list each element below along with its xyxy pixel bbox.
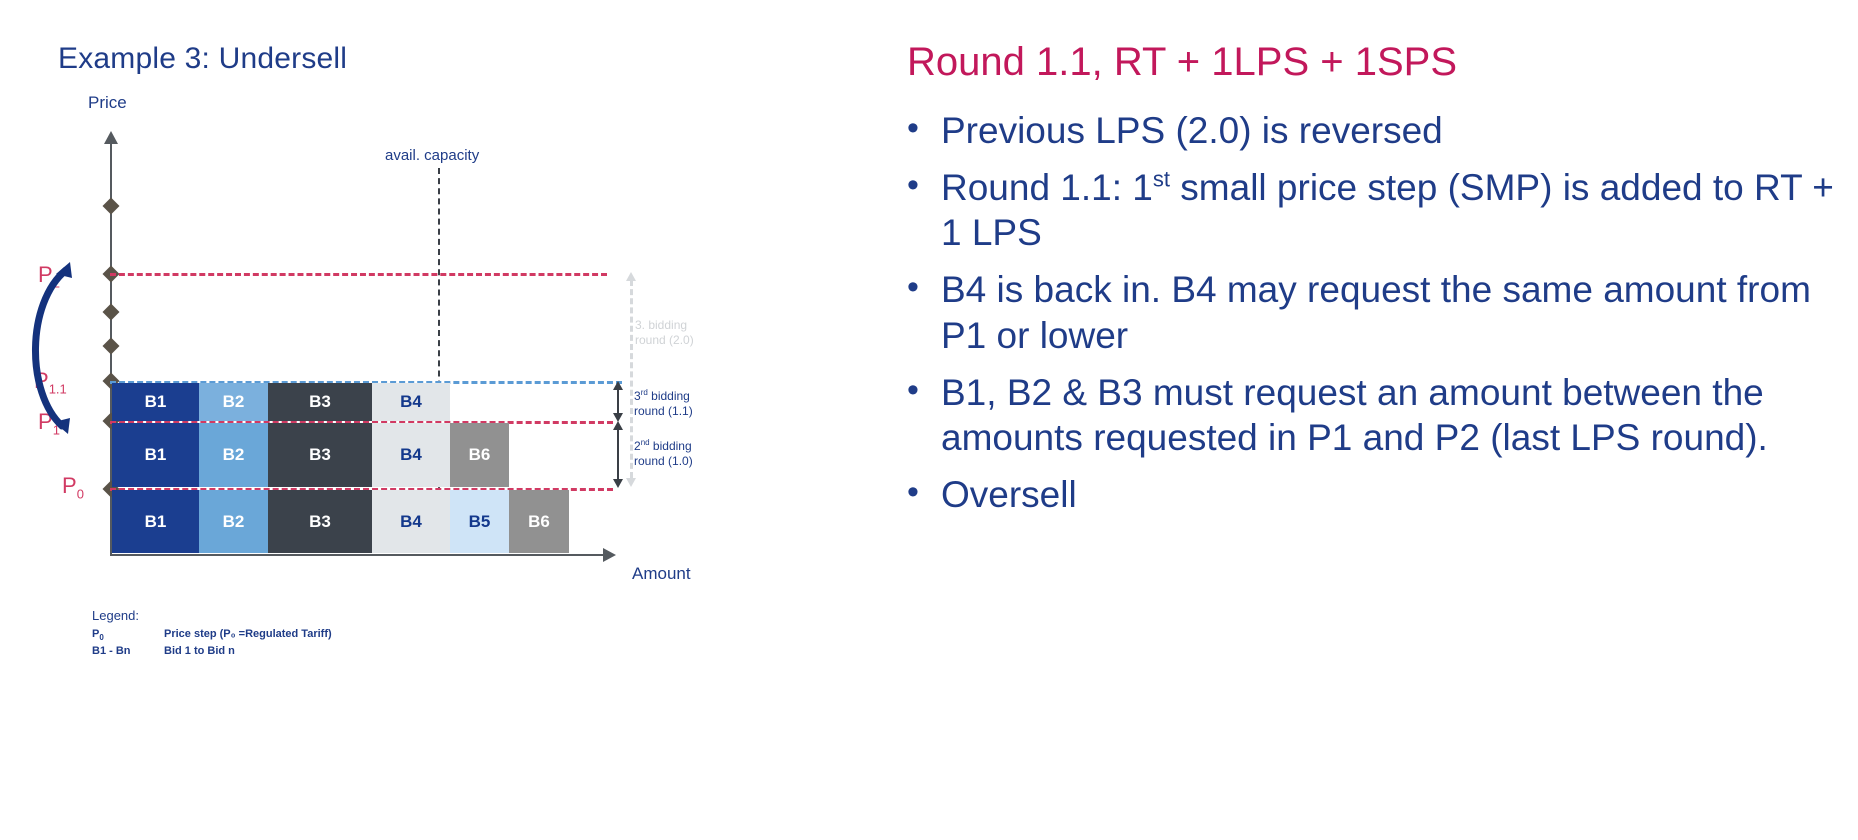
legend-value: Price step (P₀ =Regulated Tariff) (164, 627, 332, 644)
annotation-label-round20: 3. bidding round (2.0) (635, 318, 694, 348)
bar-label: B2 (223, 512, 245, 532)
legend-key: P0 (92, 627, 164, 644)
annotation-line1: 2nd bidding (634, 439, 692, 453)
annotation-arrow-round10 (617, 429, 619, 480)
annotation-line1: 3rd bidding (634, 389, 690, 403)
bar-label: B2 (223, 445, 245, 465)
annotation-arrow-round11 (617, 389, 619, 414)
annotation-line2: round (1.0) (634, 454, 693, 468)
bar-b1-round10: B1 (112, 423, 199, 487)
bar-b4-round11: B4 (372, 383, 450, 421)
bullet-item-3: • B4 is back in. B4 may request the same… (907, 267, 1847, 357)
annotation-line2: round (2.0) (635, 333, 694, 347)
bar-label: B4 (400, 512, 422, 532)
bullet-list: • Previous LPS (2.0) is reversed • Round… (907, 108, 1847, 529)
bar-b1-round11: B1 (112, 383, 199, 421)
bar-label: B5 (469, 512, 491, 532)
right-text-panel: Round 1.1, RT + 1LPS + 1SPS • Previous L… (905, 0, 1858, 840)
bar-label: B4 (400, 392, 422, 412)
annotation-arrow-head-down (613, 479, 623, 488)
bullet-item-4: • B1, B2 & B3 must request an amount bet… (907, 370, 1847, 460)
annotation-line1: 3. bidding (635, 318, 687, 332)
avail-capacity-label: avail. capacity (385, 147, 479, 164)
x-axis-arrow-icon (603, 548, 616, 562)
price-amount-chart: avail. capacity P2 P1.1 P1 P0 (0, 0, 900, 700)
reversal-curve-arrow-icon (22, 258, 84, 438)
axis-tick-marker (103, 338, 120, 355)
bullet-item-1: • Previous LPS (2.0) is reversed (907, 108, 1847, 153)
annotation-arrow-head-down (626, 478, 636, 487)
bullet-text: B4 is back in. B4 may request the same a… (941, 267, 1847, 357)
price-label-p0-base: P (62, 473, 77, 498)
bar-label: B4 (400, 445, 422, 465)
bar-label: B1 (145, 392, 167, 412)
bullet-text: B1, B2 & B3 must request an amount betwe… (941, 370, 1847, 460)
bullet-marker-icon: • (907, 267, 941, 308)
bullet-text: Previous LPS (2.0) is reversed (941, 108, 1847, 153)
bar-b4-round10: B4 (372, 423, 450, 487)
bullet-item-2: • Round 1.1: 1st small price step (SMP) … (907, 165, 1847, 255)
bar-b4-round0: B4 (372, 490, 450, 553)
bar-b2-round0: B2 (199, 490, 268, 553)
bar-label: B3 (309, 392, 331, 412)
bar-label: B1 (145, 512, 167, 532)
legend-row: P0 Price step (P₀ =Regulated Tariff) (92, 627, 332, 644)
bar-b6-round0: B6 (509, 490, 569, 553)
annotation-arrow-round20 (630, 280, 633, 478)
axis-tick-marker (103, 198, 120, 215)
round-title: Round 1.1, RT + 1LPS + 1SPS (907, 40, 1457, 85)
bullet-marker-icon: • (907, 370, 941, 411)
bar-label: B6 (528, 512, 550, 532)
annotation-label-round10: 2nd bidding round (1.0) (634, 438, 693, 469)
bar-b2-round10: B2 (199, 423, 268, 487)
bar-b1-round0: B1 (112, 490, 199, 553)
legend-value: Bid 1 to Bid n (164, 644, 235, 660)
bar-label: B3 (309, 512, 331, 532)
x-axis-line (110, 554, 605, 556)
legend-key: B1 - Bn (92, 644, 164, 660)
left-diagram-panel: Example 3: Undersell Price Amount avail.… (0, 0, 900, 840)
bullet-marker-icon: • (907, 472, 941, 513)
legend-title: Legend: (92, 608, 332, 623)
bar-b3-round10: B3 (268, 423, 372, 487)
bullet-item-5: • Oversell (907, 472, 1847, 517)
bullet-marker-icon: • (907, 108, 941, 149)
bar-label: B2 (223, 392, 245, 412)
bar-b3-round11: B3 (268, 383, 372, 421)
axis-tick-marker (103, 304, 120, 321)
bar-b6-round10: B6 (450, 423, 509, 487)
bar-label: B1 (145, 445, 167, 465)
legend: Legend: P0 Price step (P₀ =Regulated Tar… (92, 608, 332, 660)
legend-row: B1 - Bn Bid 1 to Bid n (92, 644, 332, 660)
bullet-marker-icon: • (907, 165, 941, 206)
price-line-p2 (110, 273, 607, 276)
bar-b3-round0: B3 (268, 490, 372, 553)
bar-label: B3 (309, 445, 331, 465)
bar-b5-round0: B5 (450, 490, 509, 553)
slide: Example 3: Undersell Price Amount avail.… (0, 0, 1858, 840)
annotation-line2: round (1.1) (634, 404, 693, 418)
annotation-label-round11: 3rd bidding round (1.1) (634, 388, 693, 419)
price-label-p0: P0 (62, 473, 84, 501)
price-label-p0-sub: 0 (77, 486, 84, 501)
bullet-text: Round 1.1: 1st small price step (SMP) is… (941, 165, 1847, 255)
bullet-text: Oversell (941, 472, 1847, 517)
bar-b2-round11: B2 (199, 383, 268, 421)
bar-label: B6 (469, 445, 491, 465)
